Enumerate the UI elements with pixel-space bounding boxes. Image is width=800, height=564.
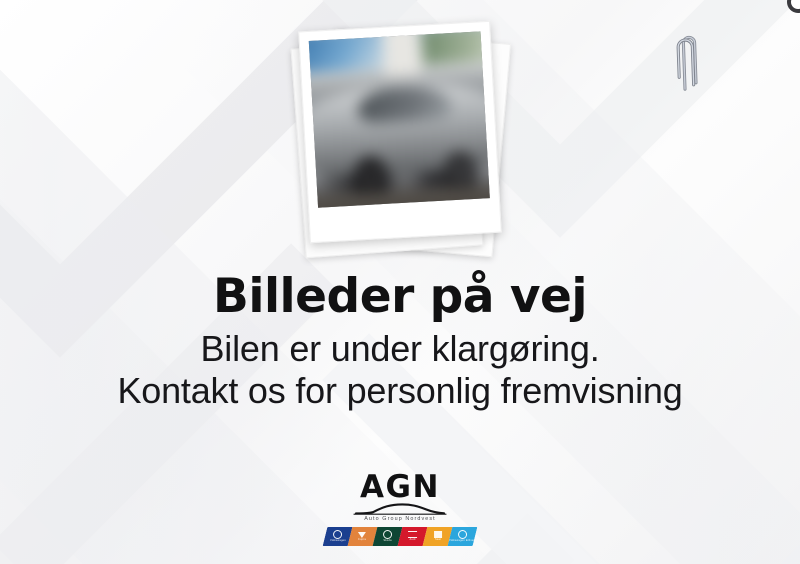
brand-badge-label: Volkswagen [330,540,346,543]
agn-wordmark: AGN [353,472,447,503]
image-placeholder-card: Billeder på vej Bilen er under klargørin… [0,0,800,564]
brand-badge-label: Seat [434,539,440,542]
audi-icon: Audi [408,531,417,542]
brand-badge-label: Volkswagen Erhverv [449,540,476,543]
showroom-floor [309,185,490,208]
brand-badge-label: Skoda [383,540,391,543]
photo-window-middle [382,31,422,76]
brand-badge: Volkswagen Erhverv [448,527,478,546]
brand-badge-bar: Volkswagen Cupra Skoda Audi [323,527,478,546]
polaroid-photo-stack [292,16,508,264]
photo-window [309,31,490,207]
subtitle-line-1: Bilen er under klargøring. [0,328,800,370]
seat-icon: Seat [434,531,442,542]
cupra-icon: Cupra [358,532,366,542]
volkswagen-icon: Volkswagen [330,530,346,543]
message-block: Billeder på vej Bilen er under klargørin… [0,272,800,413]
page-title: Billeder på vej [0,272,800,322]
agn-tagline: Auto Group Nordvest [353,516,447,522]
brand-badge-label: Audi [410,539,416,542]
photo-window-left [309,31,384,73]
volkswagen-commercial-icon: Volkswagen Erhverv [449,530,476,543]
agn-wordmark-group: AGN Auto Group Nordvest [353,472,447,522]
polaroid-frame-front [298,21,502,243]
brand-badge-label: Cupra [358,539,366,542]
subtitle-line-2: Kontakt os for personlig fremvisning [0,370,800,412]
blurred-car-photo [309,31,490,207]
brand-logo: AGN Auto Group Nordvest Volkswagen Cupra [0,472,800,546]
paperclip-icon [673,26,705,93]
skoda-icon: Skoda [383,530,392,543]
photo-window-right [421,31,490,64]
